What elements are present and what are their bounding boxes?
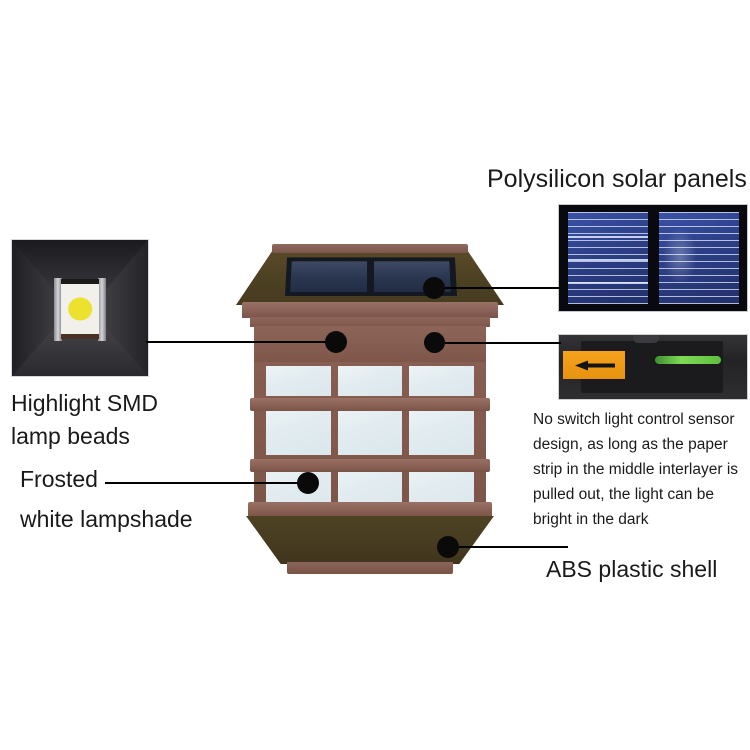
solar-busbar-3 xyxy=(568,282,648,284)
leader-line-solar-panels xyxy=(443,287,561,289)
orange-pull-tab xyxy=(563,351,625,379)
solar-panels-title: Polysilicon solar panels xyxy=(487,167,747,192)
sensor-description-line-5: bright in the dark xyxy=(533,512,648,528)
sensor-description-line-3: strip in the middle interlayer is xyxy=(533,462,738,478)
solar-busbar-1 xyxy=(568,236,648,238)
sensor-description-line-1: No switch light control sensor xyxy=(533,412,735,428)
lampshade-pane xyxy=(409,366,474,396)
leader-line-smd xyxy=(146,341,336,343)
leader-line-lampshade xyxy=(105,482,310,484)
lamp-base-foot xyxy=(287,562,453,574)
abs-shell-label: ABS plastic shell xyxy=(546,558,717,581)
led-contact-right xyxy=(98,278,105,341)
leader-line-abs-shell xyxy=(458,546,568,548)
lamp-cornice-upper xyxy=(242,302,498,318)
lamp-roof-ridge xyxy=(272,244,468,253)
lamp-horizontal-slat-upper xyxy=(250,398,490,411)
solar-busbar-2 xyxy=(568,259,648,261)
polysilicon-solar-panel-photo xyxy=(558,204,748,312)
solar-glare-highlight xyxy=(663,227,697,285)
smd-lamp-bead-photo xyxy=(11,239,149,377)
lamp-horizontal-slat-lower xyxy=(250,459,490,472)
leader-line-sensor xyxy=(443,342,561,344)
lampshade-pane xyxy=(338,366,403,396)
left-arrow-icon xyxy=(575,361,615,370)
callout-dot-sensor xyxy=(424,332,445,353)
lamp-upper-band xyxy=(254,326,486,364)
led-package xyxy=(61,279,99,339)
smd-label-line-2: lamp beads xyxy=(11,425,130,448)
light-sensor-pull-tab-photo xyxy=(558,334,748,400)
solar-cell-left xyxy=(568,212,648,304)
led-phosphor-dome xyxy=(68,298,92,321)
callout-dot-lampshade xyxy=(297,472,319,494)
lamp-lower-rail xyxy=(248,502,492,517)
smd-label-line-1: Highlight SMD xyxy=(11,392,158,415)
sensor-description-line-4: pulled out, the light can be xyxy=(533,487,714,503)
housing-notch xyxy=(633,335,659,343)
solar-wall-lamp-product xyxy=(234,244,506,582)
infographic-canvas: Polysilicon solar panels No switch light… xyxy=(0,0,750,750)
lampshade-label-line-1: Frosted xyxy=(20,468,98,491)
callout-dot-solar-panels xyxy=(423,277,445,299)
lamp-solar-cell-left xyxy=(290,261,367,292)
callout-dot-abs-shell xyxy=(437,536,459,558)
lampshade-pane xyxy=(266,366,331,396)
green-circuit-strip xyxy=(655,356,721,364)
lampshade-label-line-2: white lampshade xyxy=(20,508,193,531)
callout-dot-smd xyxy=(325,331,347,353)
sensor-description-line-2: design, as long as the paper xyxy=(533,437,728,453)
